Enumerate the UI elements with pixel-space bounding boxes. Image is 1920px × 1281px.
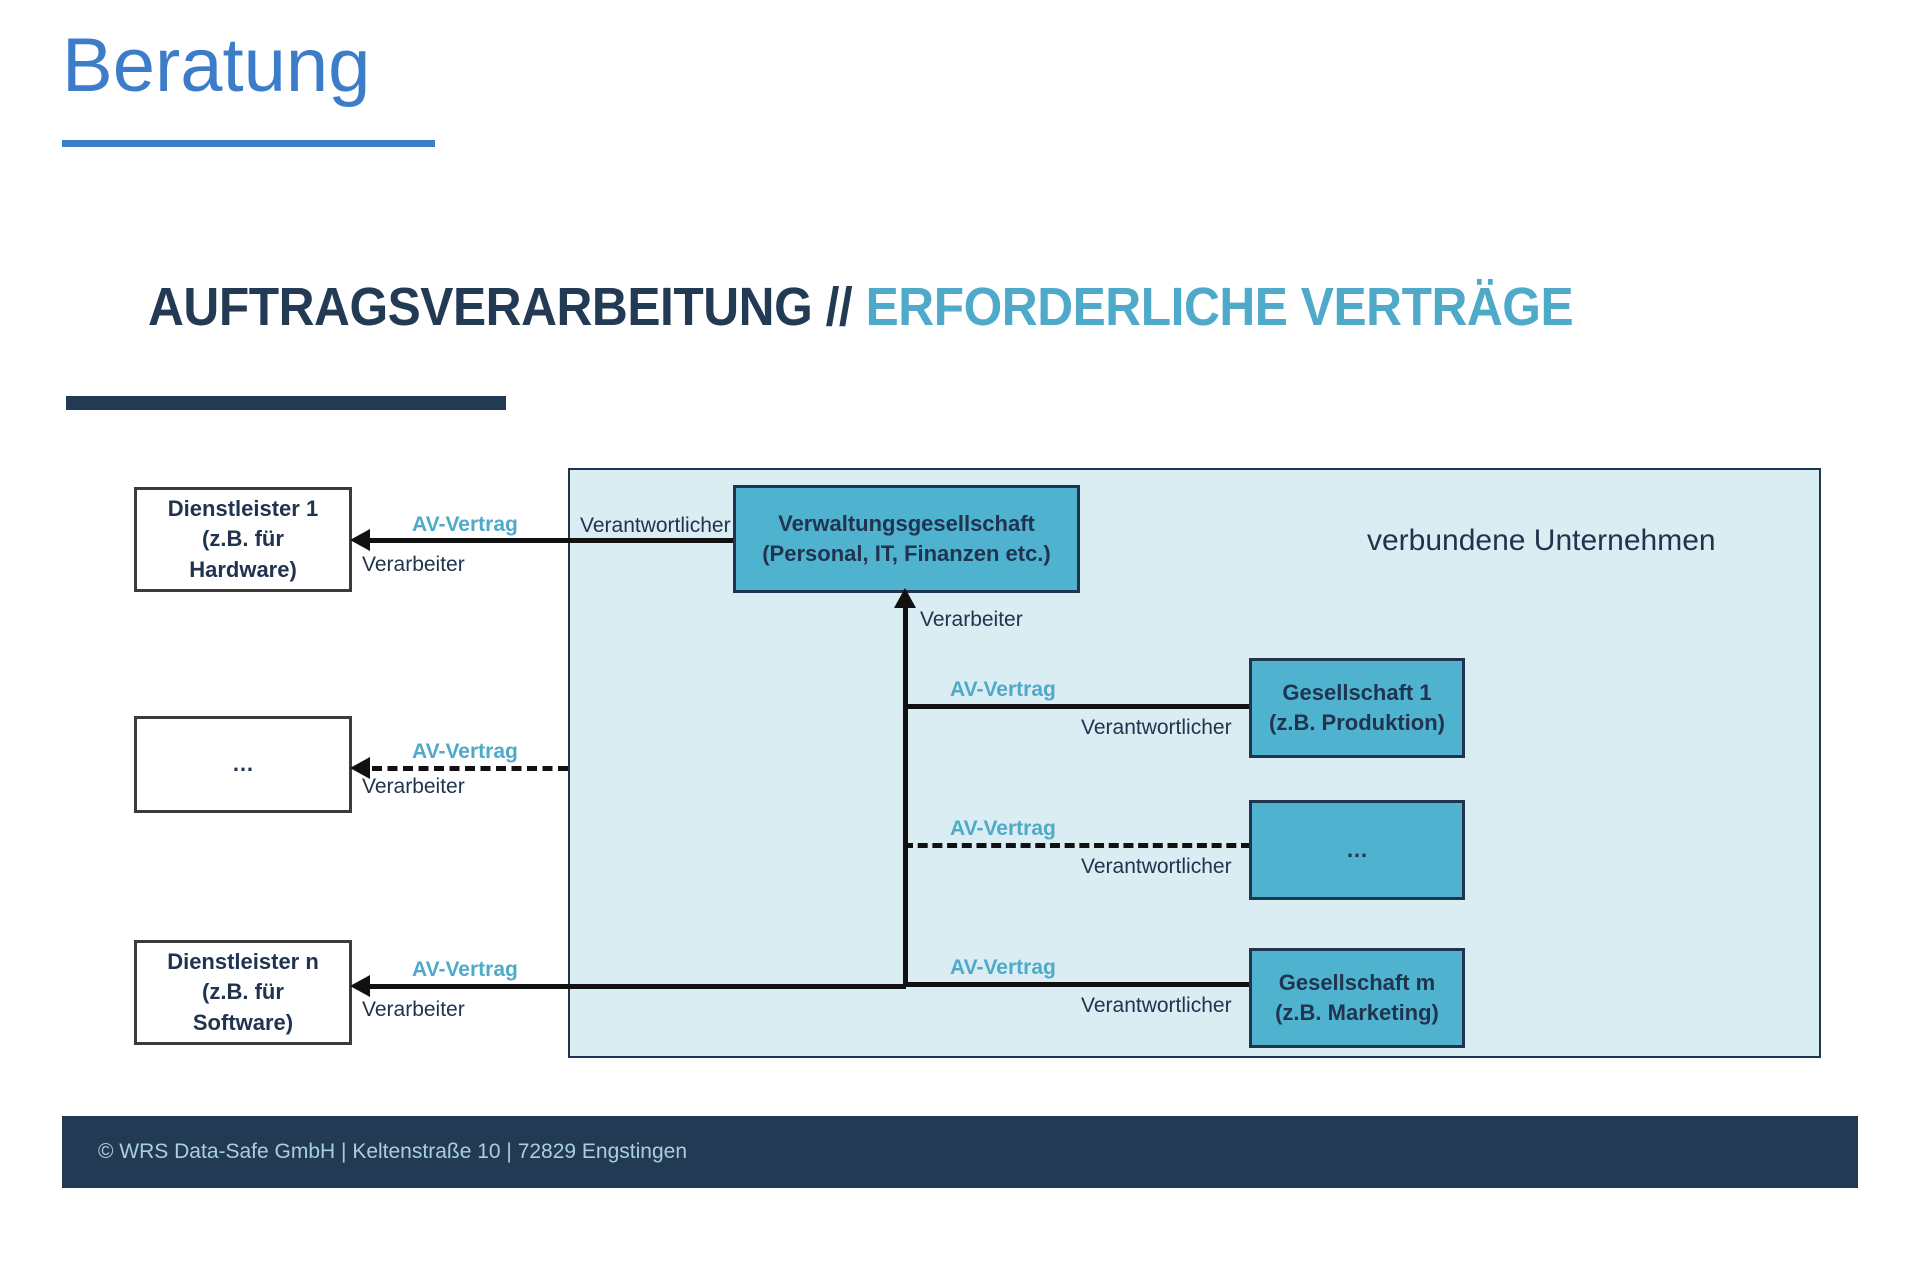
box-service-provider-1: Dienstleister 1 (z.B. für Hardware) xyxy=(134,487,352,592)
box-company-ellipsis: … xyxy=(1249,800,1465,900)
connector-provider1-arrowhead-icon xyxy=(350,529,370,551)
edge-label-contract-provider-ellipsis: AV-Vertrag xyxy=(412,740,518,764)
box-line-3: Software) xyxy=(193,1008,293,1038)
main-heading-part-two: ERFORDERLICHE VERTRÄGE xyxy=(866,277,1574,337)
box-line-2: (Personal, IT, Finanzen etc.) xyxy=(762,539,1051,569)
edge-label-processor-management: Verarbeiter xyxy=(920,608,1023,632)
connector-provider-ellipsis-line xyxy=(372,766,568,771)
connector-provider1-line xyxy=(368,538,733,543)
box-line-2: (z.B. für xyxy=(202,977,284,1007)
box-line-3: Hardware) xyxy=(189,555,297,585)
box-company-1: Gesellschaft 1 (z.B. Produktion) xyxy=(1249,658,1465,758)
box-company-m: Gesellschaft m (z.B. Marketing) xyxy=(1249,948,1465,1048)
edge-label-processor-provider-ellipsis: Verarbeiter xyxy=(362,775,465,799)
edge-label-processor-provider1: Verarbeiter xyxy=(362,553,465,577)
box-line-1: Verwaltungsgesellschaft xyxy=(778,509,1035,539)
footer-copyright: © WRS Data-Safe GmbH | Keltenstraße 10 |… xyxy=(98,1140,687,1164)
edge-label-contract-company-ellipsis: AV-Vertrag xyxy=(950,817,1056,841)
connector-company-ellipsis-line xyxy=(903,843,1251,848)
edge-label-controller-company-ellipsis: Verantwortlicher xyxy=(1081,855,1232,879)
edge-label-controller-company-1: Verantwortlicher xyxy=(1081,716,1232,740)
page-title: Beratung xyxy=(62,28,370,104)
edge-label-controller-management: Verantwortlicher xyxy=(580,514,731,538)
edge-label-controller-company-m: Verantwortlicher xyxy=(1081,994,1232,1018)
connector-company-1-line xyxy=(903,704,1251,709)
main-heading: AUFTRAGSVERARBEITUNG // ERFORDERLICHE VE… xyxy=(148,276,1573,338)
edge-label-contract-provider-n: AV-Vertrag xyxy=(412,958,518,982)
heading-divider xyxy=(66,396,506,410)
box-line-1: … xyxy=(232,749,254,779)
edge-label-contract-company-m: AV-Vertrag xyxy=(950,956,1056,980)
box-line-1: Gesellschaft m xyxy=(1279,968,1436,998)
box-service-provider-ellipsis: … xyxy=(134,716,352,813)
edge-label-contract-provider1: AV-Vertrag xyxy=(412,513,518,537)
connector-companies-vertical-line xyxy=(903,604,908,986)
edge-label-contract-company-1: AV-Vertrag xyxy=(950,678,1056,702)
box-line-1: Dienstleister 1 xyxy=(168,494,318,524)
box-service-provider-n: Dienstleister n (z.B. für Software) xyxy=(134,940,352,1045)
affiliated-companies-label: verbundene Unternehmen xyxy=(1367,524,1716,558)
edge-label-processor-provider-n: Verarbeiter xyxy=(362,998,465,1022)
box-management-company: Verwaltungsgesellschaft (Personal, IT, F… xyxy=(733,485,1080,593)
connector-provider-n-arrowhead-icon xyxy=(350,975,370,997)
box-line-2: (z.B. für xyxy=(202,524,284,554)
box-line-1: Gesellschaft 1 xyxy=(1282,678,1431,708)
box-line-1: … xyxy=(1346,835,1368,865)
connector-provider-n-line xyxy=(368,984,906,989)
box-line-2: (z.B. Marketing) xyxy=(1275,998,1439,1028)
connector-company-m-line xyxy=(903,982,1251,987)
connector-companies-arrowhead-icon xyxy=(894,588,916,608)
box-line-1: Dienstleister n xyxy=(167,947,319,977)
main-heading-part-one: AUFTRAGSVERARBEITUNG // xyxy=(148,277,866,337)
box-line-2: (z.B. Produktion) xyxy=(1269,708,1445,738)
page-title-underline xyxy=(62,140,435,147)
